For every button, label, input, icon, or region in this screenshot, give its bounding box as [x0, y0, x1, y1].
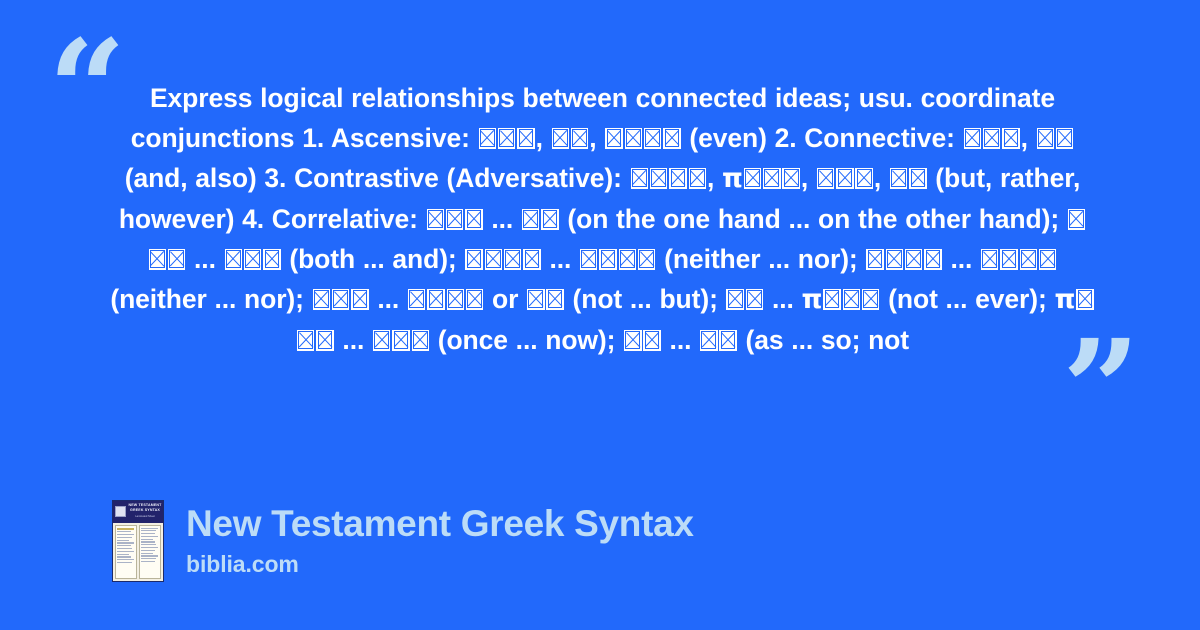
- missing-glyph-box-icon: [1037, 128, 1054, 149]
- missing-glyph-box-icon: [1002, 128, 1019, 149]
- missing-glyph-box-icon: [763, 168, 780, 189]
- missing-glyph-box-icon: [522, 209, 539, 230]
- missing-glyph-box-icon: [700, 330, 717, 351]
- cover-columns: [113, 523, 163, 581]
- footer: NEW TESTAMENT GREEK SYNTAX Laminated She…: [112, 500, 694, 582]
- missing-glyph-box-icon: [905, 249, 922, 270]
- missing-glyph-box-icon: [244, 249, 261, 270]
- missing-glyph-box-icon: [644, 128, 661, 149]
- cover-badge-icon: [115, 506, 126, 517]
- missing-glyph-box-icon: [855, 168, 872, 189]
- missing-glyph-box-icon: [297, 330, 314, 351]
- cover-title-line-1: NEW TESTAMENT: [128, 503, 161, 507]
- missing-glyph-box-icon: [517, 128, 534, 149]
- cover-title-text: NEW TESTAMENT GREEK SYNTAX: [128, 503, 162, 512]
- missing-glyph-box-icon: [408, 289, 425, 310]
- missing-glyph-box-icon: [498, 128, 515, 149]
- missing-glyph-box-icon: [465, 249, 482, 270]
- book-title: New Testament Greek Syntax: [186, 502, 694, 546]
- missing-glyph-box-icon: [924, 249, 941, 270]
- missing-glyph-box-icon: [316, 330, 333, 351]
- greek-letter: π: [1054, 284, 1075, 315]
- missing-glyph-box-icon: [479, 128, 496, 149]
- quote-text: Express logical relationships between co…: [110, 78, 1095, 360]
- cover-column-right: [139, 525, 161, 579]
- missing-glyph-box-icon: [625, 128, 642, 149]
- missing-glyph-box-icon: [446, 209, 463, 230]
- missing-glyph-box-icon: [890, 168, 907, 189]
- missing-glyph-box-icon: [1000, 249, 1017, 270]
- missing-glyph-box-icon: [744, 168, 761, 189]
- missing-glyph-box-icon: [964, 128, 981, 149]
- missing-glyph-box-icon: [624, 330, 641, 351]
- missing-glyph-box-icon: [427, 209, 444, 230]
- missing-glyph-box-icon: [225, 249, 242, 270]
- missing-glyph-box-icon: [650, 168, 667, 189]
- missing-glyph-box-icon: [149, 249, 166, 270]
- missing-glyph-box-icon: [886, 249, 903, 270]
- missing-glyph-box-icon: [466, 289, 483, 310]
- missing-glyph-box-icon: [669, 168, 686, 189]
- greek-letter: π: [802, 284, 823, 315]
- cover-column-left: [115, 525, 137, 579]
- missing-glyph-box-icon: [909, 168, 926, 189]
- missing-glyph-box-icon: [862, 289, 879, 310]
- missing-glyph-box-icon: [866, 249, 883, 270]
- missing-glyph-box-icon: [605, 128, 622, 149]
- missing-glyph-box-icon: [447, 289, 464, 310]
- greek-letter: π: [722, 163, 743, 194]
- missing-glyph-box-icon: [412, 330, 429, 351]
- missing-glyph-box-icon: [643, 330, 660, 351]
- site-name[interactable]: biblia.com: [186, 549, 694, 579]
- missing-glyph-box-icon: [263, 249, 280, 270]
- missing-glyph-box-icon: [427, 289, 444, 310]
- cover-title-line-2: GREEK SYNTAX: [130, 508, 160, 512]
- cover-subtitle-text: Laminated Sheet: [128, 515, 162, 518]
- missing-glyph-box-icon: [527, 289, 544, 310]
- missing-glyph-box-icon: [580, 249, 597, 270]
- missing-glyph-box-icon: [351, 289, 368, 310]
- missing-glyph-box-icon: [1056, 128, 1073, 149]
- missing-glyph-box-icon: [782, 168, 799, 189]
- missing-glyph-box-icon: [823, 289, 840, 310]
- missing-glyph-box-icon: [523, 249, 540, 270]
- cover-header: NEW TESTAMENT GREEK SYNTAX Laminated She…: [113, 501, 163, 523]
- book-cover-thumbnail[interactable]: NEW TESTAMENT GREEK SYNTAX Laminated She…: [112, 500, 164, 582]
- missing-glyph-box-icon: [631, 168, 648, 189]
- missing-glyph-box-icon: [541, 209, 558, 230]
- missing-glyph-box-icon: [552, 128, 569, 149]
- missing-glyph-box-icon: [1020, 249, 1037, 270]
- missing-glyph-box-icon: [719, 330, 736, 351]
- missing-glyph-box-icon: [663, 128, 680, 149]
- missing-glyph-box-icon: [313, 289, 330, 310]
- missing-glyph-box-icon: [1039, 249, 1056, 270]
- missing-glyph-box-icon: [689, 168, 706, 189]
- missing-glyph-box-icon: [465, 209, 482, 230]
- missing-glyph-box-icon: [1076, 289, 1093, 310]
- missing-glyph-box-icon: [746, 289, 763, 310]
- missing-glyph-box-icon: [392, 330, 409, 351]
- missing-glyph-box-icon: [619, 249, 636, 270]
- missing-glyph-box-icon: [332, 289, 349, 310]
- missing-glyph-box-icon: [485, 249, 502, 270]
- missing-glyph-box-icon: [843, 289, 860, 310]
- missing-glyph-box-icon: [546, 289, 563, 310]
- missing-glyph-box-icon: [726, 289, 743, 310]
- missing-glyph-box-icon: [638, 249, 655, 270]
- missing-glyph-box-icon: [168, 249, 185, 270]
- quote-card: “ ” Express logical relationships betwee…: [0, 0, 1200, 630]
- missing-glyph-box-icon: [981, 249, 998, 270]
- missing-glyph-box-icon: [373, 330, 390, 351]
- missing-glyph-box-icon: [571, 128, 588, 149]
- missing-glyph-box-icon: [836, 168, 853, 189]
- footer-text-block: New Testament Greek Syntax biblia.com: [186, 500, 694, 579]
- missing-glyph-box-icon: [817, 168, 834, 189]
- missing-glyph-box-icon: [983, 128, 1000, 149]
- missing-glyph-box-icon: [1068, 209, 1085, 230]
- missing-glyph-box-icon: [599, 249, 616, 270]
- missing-glyph-box-icon: [504, 249, 521, 270]
